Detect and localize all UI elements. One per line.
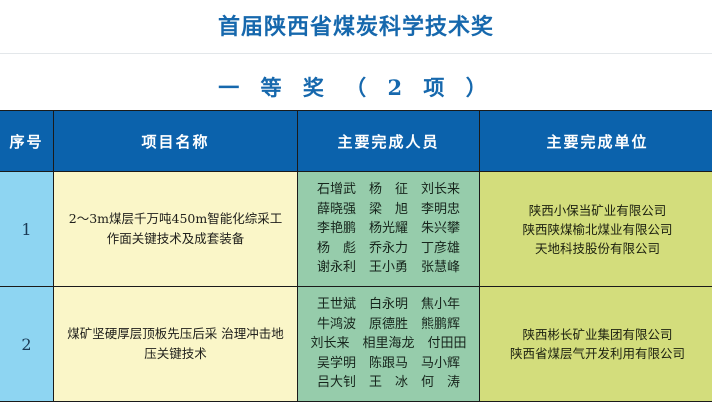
project-name-cell: 煤矿坚硬厚层顶板先压后采 治理冲击地压关键技术 [54, 287, 298, 402]
table-body: 1 2～3m煤层千万吨450m智能化综采工作面关键技术及成套装备 石增武 杨 征… [0, 172, 712, 402]
table-header: 序号 项目名称 主要完成人员 主要完成单位 [0, 111, 712, 172]
row-index-cell: 1 [0, 172, 54, 287]
column-header-序号: 序号 [0, 111, 54, 172]
column-header-主要完成人员: 主要完成人员 [298, 111, 480, 172]
table-row: 1 2～3m煤层千万吨450m智能化综采工作面关键技术及成套装备 石增武 杨 征… [0, 172, 712, 287]
table-row: 2 煤矿坚硬厚层顶板先压后采 治理冲击地压关键技术 王世斌 白永明 焦小年 牛鸿… [0, 287, 712, 402]
project-unit-cell: 陕西彬长矿业集团有限公司 陕西省煤层气开发利用有限公司 [480, 287, 712, 402]
column-header-项目名称: 项目名称 [54, 111, 298, 172]
award-list-page: 首届陕西省煤炭科学技术奖 一 等 奖 （ 2 项 ） 序号 项目名称 主要完成人… [0, 0, 712, 410]
project-unit-cell: 陕西小保当矿业有限公司 陕西陕煤榆北煤业有限公司 天地科技股份有限公司 [480, 172, 712, 287]
award-level-subtitle: 一 等 奖 （ 2 项 ） [0, 73, 712, 103]
page-title: 首届陕西省煤炭科学技术奖 [0, 10, 712, 44]
title-divider [0, 53, 712, 54]
project-staff-cell: 石增武 杨 征 刘长来 薛晓强 梁 旭 李明忠 李艳鹏 杨光耀 朱兴攀 杨 彪 … [298, 172, 480, 287]
award-table: 序号 项目名称 主要完成人员 主要完成单位 1 2～3m煤层千万吨450m智能化… [0, 110, 712, 402]
column-header-主要完成单位: 主要完成单位 [480, 111, 712, 172]
project-staff-cell: 王世斌 白永明 焦小年 牛鸿波 原德胜 熊鹏辉 刘长来 相里海龙 付田田 吴学明… [298, 287, 480, 402]
project-name-cell: 2～3m煤层千万吨450m智能化综采工作面关键技术及成套装备 [54, 172, 298, 287]
row-index-cell: 2 [0, 287, 54, 402]
title-block: 首届陕西省煤炭科学技术奖 一 等 奖 （ 2 项 ） [0, 0, 712, 103]
table-header-row: 序号 项目名称 主要完成人员 主要完成单位 [0, 111, 712, 172]
